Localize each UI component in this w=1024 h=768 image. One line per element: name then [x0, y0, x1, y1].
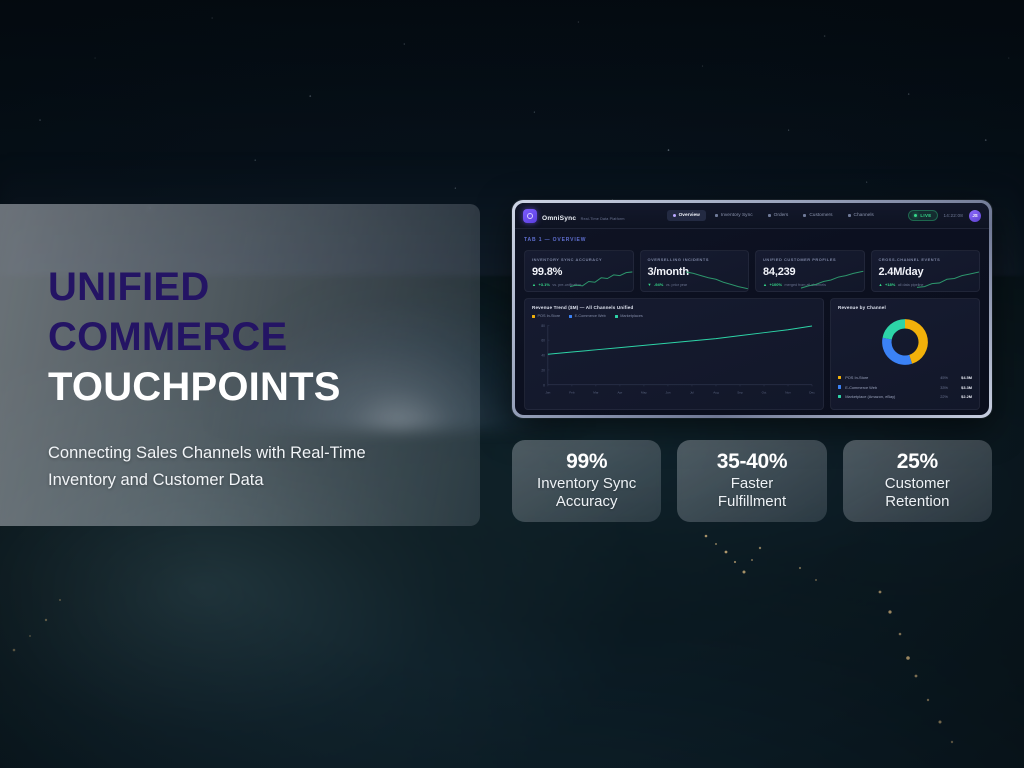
omnisync-logo-icon: [523, 209, 537, 223]
slide-canvas: UNIFIED COMMERCE TOUCHPOINTS Connecting …: [0, 0, 1024, 768]
revenue-line-chart: 020406080JanFebMarAprMayJunJulAugSepOctN…: [532, 321, 816, 397]
live-label: LIVE: [920, 213, 931, 218]
donut-legend-row-ecommerce-web: E-Commerce Web 33% $3.3M: [838, 385, 972, 390]
kpi-label: CROSS-CHANNEL EVENTS: [879, 257, 973, 262]
legend-swatch-icon: [615, 315, 618, 318]
svg-text:80: 80: [541, 324, 545, 328]
chart-row: Revenue Trend ($M) — All Channels Unifie…: [524, 298, 980, 410]
channel-pct: 45%: [932, 375, 948, 380]
dashboard-screen: OmniSync Real-Time Data Platform Overvie…: [515, 203, 989, 415]
stat-label-line2: Retention: [885, 493, 949, 510]
stat-label-line1: Inventory Sync: [537, 475, 636, 492]
headline-line-3: TOUCHPOINTS: [48, 362, 438, 412]
svg-text:Jan: Jan: [545, 390, 550, 394]
stat-label-line1: Customer: [885, 475, 950, 492]
stat-pill-row: 99% Inventory Sync Accuracy 35-40% Faste…: [512, 440, 992, 522]
stat-pill-inventory-sync-accuracy: 99% Inventory Sync Accuracy: [512, 440, 661, 522]
revenue-donut-chart: [879, 316, 931, 368]
kpi-card-overselling-incidents[interactable]: OVERSELLING INCIDENTS 3/month ▼ -94% vs.…: [640, 250, 750, 292]
channel-label: POS In-Store: [845, 375, 928, 380]
kpi-card-unified-customer-profiles[interactable]: UNIFIED CUSTOMER PROFILES 84,239 ▲ +100%…: [755, 250, 865, 292]
kpi-label: INVENTORY SYNC ACCURACY: [532, 257, 626, 262]
channel-pct: 22%: [932, 394, 948, 399]
tab-overview[interactable]: Overview: [667, 210, 706, 221]
tab-orders-label: Orders: [774, 213, 789, 218]
legend-swatch-icon: [532, 315, 535, 318]
legend-label: E-Commerce Web: [575, 314, 606, 318]
legend-item-pos-in-store: POS In-Store: [532, 314, 560, 318]
trend-up-icon: ▲: [763, 283, 767, 287]
svg-text:Oct: Oct: [762, 390, 767, 394]
kpi-delta: -94%: [654, 282, 663, 287]
stat-label-line2: Accuracy: [556, 493, 618, 510]
kpi-card-inventory-sync-accuracy[interactable]: INVENTORY SYNC ACCURACY 99.8% ▲ +3.1% vs…: [524, 250, 634, 292]
svg-text:Nov: Nov: [785, 390, 791, 394]
tab-channels[interactable]: Channels: [842, 210, 880, 221]
legend-swatch-icon: [838, 395, 841, 398]
stat-number: 35-40%: [717, 450, 788, 474]
kpi-delta: +100%: [769, 282, 782, 287]
dashboard-mockup-frame: OmniSync Real-Time Data Platform Overvie…: [512, 200, 992, 418]
brand-name: OmniSync: [542, 215, 576, 222]
legend-label: POS In-Store: [538, 314, 561, 318]
svg-text:Mar: Mar: [593, 390, 598, 394]
sparkline-chart: [801, 269, 863, 291]
legend-item-ecommerce-web: E-Commerce Web: [569, 314, 606, 318]
donut-legend-row-pos-in-store: POS In-Store 45% $4.5M: [838, 375, 972, 380]
subheadline: Connecting Sales Channels with Real-Time…: [48, 440, 438, 493]
kpi-note: vs. prior year: [666, 283, 687, 287]
clock-readout: 14:22:08: [944, 213, 963, 218]
channel-value: $4.5M: [952, 375, 972, 380]
brand-tagline: Real-Time Data Platform: [581, 217, 625, 221]
legend-item-marketplaces: Marketplaces: [615, 314, 643, 318]
dot-icon: [673, 214, 676, 217]
tab-inventory-sync[interactable]: Inventory Sync: [709, 210, 759, 221]
stat-number: 25%: [897, 450, 938, 474]
svg-text:May: May: [641, 390, 647, 394]
stat-pill-customer-retention: 25% Customer Retention: [843, 440, 992, 522]
legend-swatch-icon: [838, 376, 841, 379]
donut-legend: POS In-Store 45% $4.5M E-Commerce Web 33…: [838, 375, 972, 399]
legend-swatch-icon: [838, 385, 841, 388]
dashboard-topbar: OmniSync Real-Time Data Platform Overvie…: [515, 203, 989, 229]
kpi-delta: +18%: [885, 282, 895, 287]
svg-text:Jul: Jul: [690, 390, 694, 394]
svg-text:Sep: Sep: [737, 390, 743, 394]
channel-pct: 33%: [932, 385, 948, 390]
stat-pill-faster-fulfillment: 35-40% Faster Fulfillment: [677, 440, 826, 522]
topbar-right: LIVE 14:22:08 JS: [908, 210, 981, 222]
tab-customers[interactable]: Customers: [797, 210, 838, 221]
headline-line-2: COMMERCE: [48, 312, 438, 362]
revenue-trend-title: Revenue Trend ($M) — All Channels Unifie…: [532, 305, 816, 310]
tab-channels-label: Channels: [854, 213, 874, 218]
kpi-label: OVERSELLING INCIDENTS: [648, 257, 742, 262]
trend-up-icon: ▲: [879, 283, 883, 287]
dashboard-body: TAB 1 — OVERVIEW INVENTORY SYNC ACCURACY…: [515, 229, 989, 415]
page-title: UNIFIED COMMERCE TOUCHPOINTS: [48, 262, 438, 412]
svg-text:20: 20: [541, 369, 545, 373]
revenue-trend-legend: POS In-Store E-Commerce Web Marketplaces: [532, 314, 816, 318]
revenue-by-channel-title: Revenue by Channel: [838, 305, 972, 310]
sparkline-chart: [917, 269, 979, 291]
headline-line-1: UNIFIED: [48, 262, 438, 312]
section-tab-label: TAB 1 — OVERVIEW: [524, 237, 980, 243]
tab-inventory-sync-label: Inventory Sync: [721, 213, 753, 218]
svg-text:60: 60: [541, 339, 545, 343]
sparkline-chart: [570, 269, 632, 291]
stat-number: 99%: [566, 450, 607, 474]
box-icon: [715, 214, 718, 217]
live-dot-icon: [914, 214, 917, 217]
channel-value: $3.3M: [952, 385, 972, 390]
svg-text:Feb: Feb: [569, 390, 575, 394]
brand-block: OmniSync Real-Time Data Platform: [523, 208, 625, 224]
user-icon: [803, 214, 806, 217]
channel-value: $2.2M: [952, 394, 972, 399]
svg-text:0: 0: [543, 383, 545, 387]
avatar[interactable]: JS: [969, 210, 981, 222]
stat-label-line2: Fulfillment: [718, 493, 786, 510]
legend-swatch-icon: [569, 315, 572, 318]
revenue-by-channel-panel: Revenue by Channel POS In-Store 45% $4.5…: [830, 298, 980, 410]
trend-down-icon: ▼: [648, 283, 652, 287]
svg-text:Jun: Jun: [665, 390, 670, 394]
headline-panel: UNIFIED COMMERCE TOUCHPOINTS Connecting …: [0, 204, 480, 526]
trend-up-icon: ▲: [532, 283, 536, 287]
stat-label-line1: Faster: [731, 475, 774, 492]
tab-orders[interactable]: Orders: [762, 210, 795, 221]
kpi-row: INVENTORY SYNC ACCURACY 99.8% ▲ +3.1% vs…: [524, 250, 980, 292]
channel-label: E-Commerce Web: [845, 385, 928, 390]
donut-wrap: [838, 316, 972, 368]
kpi-delta: +3.1%: [538, 282, 549, 287]
tab-customers-label: Customers: [809, 213, 832, 218]
tab-overview-label: Overview: [679, 213, 700, 218]
revenue-trend-panel: Revenue Trend ($M) — All Channels Unifie…: [524, 298, 824, 410]
kpi-card-cross-channel-events[interactable]: CROSS-CHANNEL EVENTS 2.4M/day ▲ +18% all…: [871, 250, 981, 292]
channel-label: Marketplace (Amazon, eBay): [845, 394, 928, 399]
svg-text:40: 40: [541, 354, 545, 358]
svg-text:Dec: Dec: [809, 390, 815, 394]
sparkline-chart: [686, 269, 748, 291]
donut-legend-row-marketplace: Marketplace (Amazon, eBay) 22% $2.2M: [838, 394, 972, 399]
cart-icon: [768, 214, 771, 217]
kpi-label: UNIFIED CUSTOMER PROFILES: [763, 257, 857, 262]
legend-label: Marketplaces: [620, 314, 643, 318]
status-badge-live: LIVE: [908, 210, 937, 221]
dashboard-nav[interactable]: Overview Inventory Sync Orders Customers: [667, 210, 880, 221]
svg-text:Apr: Apr: [618, 390, 623, 394]
svg-text:Aug: Aug: [713, 390, 719, 394]
branch-icon: [848, 214, 851, 217]
